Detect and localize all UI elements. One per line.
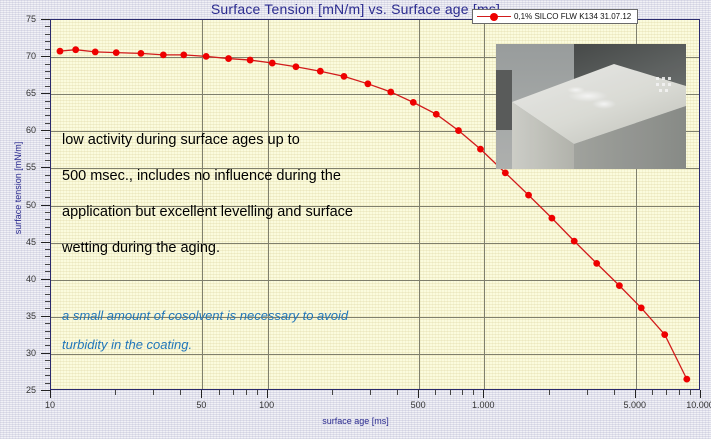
- legend-label: 0,1% SILCO FLW K134 31.07.12: [514, 12, 631, 21]
- y-tick-label: 40: [26, 274, 36, 284]
- y-tick-label: 35: [26, 311, 36, 321]
- x-tick-minor: [587, 390, 588, 395]
- y-tick-minor: [45, 368, 50, 369]
- y-tick-major: [41, 19, 50, 20]
- y-tick-minor: [45, 308, 50, 309]
- y-tick-label: 65: [26, 88, 36, 98]
- y-tick-minor: [45, 26, 50, 27]
- annotation-note-line: a small amount of cosolvent is necessary…: [62, 301, 522, 330]
- annotation-main: low activity during surface ages up to50…: [62, 122, 482, 266]
- data-point-marker: [548, 215, 555, 222]
- y-tick-minor: [45, 271, 50, 272]
- data-point-marker: [317, 68, 324, 75]
- y-tick-major: [41, 242, 50, 243]
- y-tick-label: 30: [26, 348, 36, 358]
- x-tick-minor: [397, 390, 398, 395]
- y-tick-label: 70: [26, 51, 36, 61]
- x-tick-major: [267, 390, 268, 398]
- data-point-marker: [661, 331, 668, 338]
- y-axis: 2530354045505560657075: [0, 19, 50, 390]
- y-tick-minor: [45, 301, 50, 302]
- x-tick-label: 500: [411, 400, 426, 410]
- x-tick-major: [50, 390, 51, 398]
- x-tick-minor: [370, 390, 371, 395]
- x-tick-label: 100: [259, 400, 274, 410]
- data-point-marker: [410, 99, 417, 106]
- annotation-note-line: turbidity in the coating.: [62, 330, 522, 359]
- x-tick-minor: [180, 390, 181, 395]
- data-point-marker: [593, 260, 600, 267]
- x-tick-minor: [332, 390, 333, 395]
- x-tick-minor: [679, 390, 680, 395]
- y-tick-minor: [45, 145, 50, 146]
- x-tick-minor: [652, 390, 653, 395]
- y-tick-minor: [45, 123, 50, 124]
- x-tick-minor: [462, 390, 463, 395]
- y-tick-minor: [45, 264, 50, 265]
- y-tick-label: 55: [26, 162, 36, 172]
- y-tick-minor: [45, 383, 50, 384]
- y-tick-minor: [45, 249, 50, 250]
- data-point-marker: [571, 238, 578, 245]
- y-tick-label: 60: [26, 125, 36, 135]
- annotation-line: application but excellent levelling and …: [62, 194, 482, 230]
- data-point-marker: [138, 50, 145, 57]
- y-tick-minor: [45, 78, 50, 79]
- x-axis-title: surface age [ms]: [0, 416, 711, 426]
- y-tick-major: [41, 279, 50, 280]
- y-tick-minor: [45, 34, 50, 35]
- y-tick-label: 45: [26, 237, 36, 247]
- y-tick-minor: [45, 64, 50, 65]
- y-tick-label: 75: [26, 14, 36, 24]
- y-tick-minor: [45, 294, 50, 295]
- data-point-marker: [57, 48, 64, 55]
- y-tick-major: [41, 205, 50, 206]
- y-tick-label: 25: [26, 385, 36, 395]
- y-tick-minor: [45, 115, 50, 116]
- annotation-line: low activity during surface ages up to: [62, 122, 482, 158]
- legend-marker-icon: [477, 12, 511, 21]
- x-tick-label: 5.000: [624, 400, 647, 410]
- legend: 0,1% SILCO FLW K134 31.07.12: [472, 9, 638, 24]
- y-tick-major: [41, 130, 50, 131]
- y-tick-minor: [45, 331, 50, 332]
- x-tick-minor: [153, 390, 154, 395]
- y-tick-minor: [45, 138, 50, 139]
- y-tick-minor: [45, 375, 50, 376]
- x-tick-major: [635, 390, 636, 398]
- y-tick-minor: [45, 338, 50, 339]
- data-point-marker: [433, 111, 440, 118]
- x-tick-minor: [614, 390, 615, 395]
- y-tick-major: [41, 390, 50, 391]
- y-tick-minor: [45, 197, 50, 198]
- data-point-marker: [247, 57, 254, 64]
- data-point-marker: [180, 51, 187, 58]
- y-tick-minor: [45, 227, 50, 228]
- y-tick-major: [41, 56, 50, 57]
- y-tick-minor: [45, 153, 50, 154]
- y-tick-major: [41, 167, 50, 168]
- x-tick-label: 10: [45, 400, 55, 410]
- annotation-line: 500 msec., includes no influence during …: [62, 158, 482, 194]
- y-tick-minor: [45, 86, 50, 87]
- data-point-marker: [638, 305, 645, 312]
- y-tick-minor: [45, 49, 50, 50]
- x-tick-minor: [450, 390, 451, 395]
- data-point-marker: [341, 73, 348, 80]
- y-axis-title: surface tension [mN/m]: [13, 113, 23, 263]
- annotation-line: wetting during the aging.: [62, 230, 482, 266]
- y-tick-minor: [45, 360, 50, 361]
- x-tick-minor: [549, 390, 550, 395]
- data-point-marker: [502, 169, 509, 176]
- data-point-marker: [387, 89, 394, 96]
- x-tick-minor: [473, 390, 474, 395]
- y-tick-minor: [45, 286, 50, 287]
- y-tick-major: [41, 353, 50, 354]
- x-tick-minor: [257, 390, 258, 395]
- x-tick-label: 50: [196, 400, 206, 410]
- y-tick-minor: [45, 323, 50, 324]
- annotation-note: a small amount of cosolvent is necessary…: [62, 301, 522, 359]
- x-tick-minor: [666, 390, 667, 395]
- y-tick-minor: [45, 190, 50, 191]
- x-axis: 10501005001.0005.00010.000: [50, 390, 700, 414]
- x-tick-major: [201, 390, 202, 398]
- y-tick-minor: [45, 71, 50, 72]
- x-tick-label: 1.000: [472, 400, 495, 410]
- data-point-marker: [203, 53, 210, 60]
- y-tick-minor: [45, 256, 50, 257]
- y-tick-minor: [45, 175, 50, 176]
- data-point-marker: [160, 51, 167, 58]
- data-point-marker: [525, 192, 532, 199]
- data-point-marker: [293, 63, 300, 70]
- chart-screenshot: Surface Tension [mN/m] vs. Surface age […: [0, 0, 711, 439]
- y-tick-major: [41, 316, 50, 317]
- x-tick-minor: [115, 390, 116, 395]
- y-tick-minor: [45, 212, 50, 213]
- data-point-marker: [225, 55, 232, 62]
- y-tick-minor: [45, 234, 50, 235]
- data-point-marker: [364, 80, 371, 87]
- x-tick-major: [700, 390, 701, 398]
- data-point-marker: [683, 376, 690, 383]
- y-tick-label: 50: [26, 200, 36, 210]
- data-point-marker: [616, 282, 623, 289]
- y-tick-minor: [45, 219, 50, 220]
- x-tick-minor: [435, 390, 436, 395]
- data-point-marker: [72, 46, 79, 53]
- x-tick-major: [483, 390, 484, 398]
- data-point-marker: [113, 49, 120, 56]
- y-tick-minor: [45, 160, 50, 161]
- x-tick-minor: [219, 390, 220, 395]
- y-tick-major: [41, 93, 50, 94]
- y-tick-minor: [45, 345, 50, 346]
- x-tick-label: 10.000: [686, 400, 711, 410]
- x-tick-minor: [246, 390, 247, 395]
- x-tick-major: [418, 390, 419, 398]
- y-tick-minor: [45, 182, 50, 183]
- data-point-marker: [269, 60, 276, 67]
- y-tick-minor: [45, 108, 50, 109]
- x-tick-minor: [690, 390, 691, 395]
- coated-panel-photo: [496, 44, 686, 169]
- y-tick-minor: [45, 101, 50, 102]
- x-tick-minor: [233, 390, 234, 395]
- data-point-marker: [92, 49, 99, 56]
- y-tick-minor: [45, 41, 50, 42]
